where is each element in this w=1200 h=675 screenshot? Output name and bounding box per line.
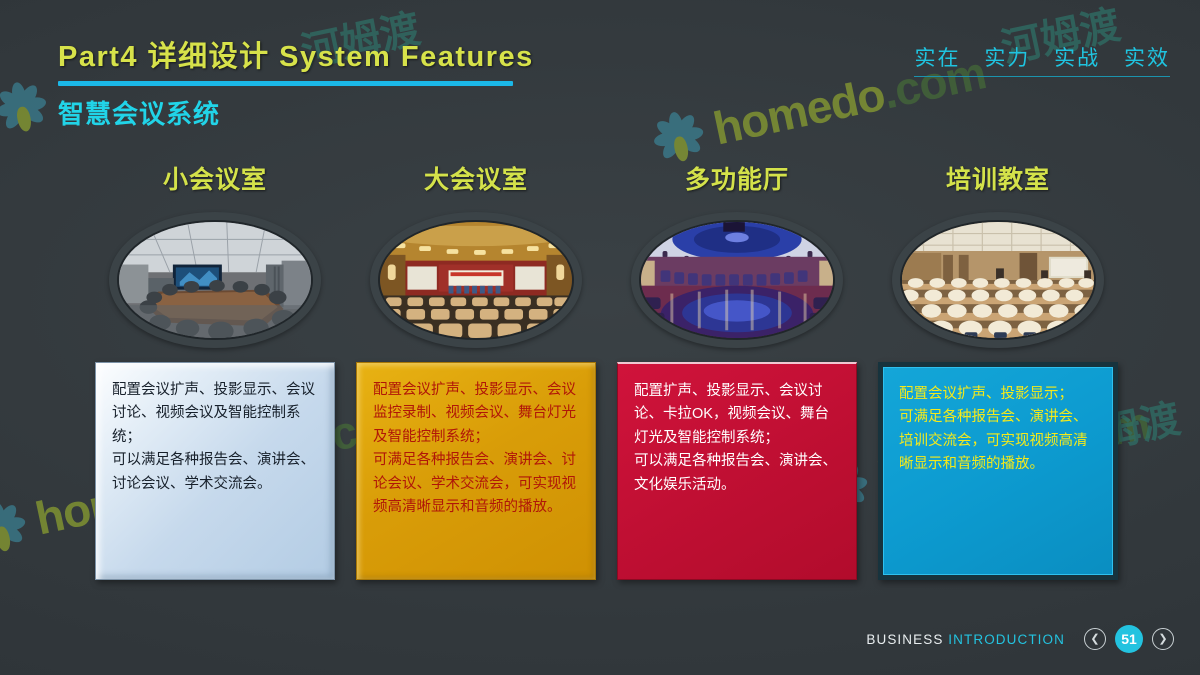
room-description-card: 配置会议扩声、投影显示、会议讨论、视频会议及智能控制系统； 可以满足各种报告会、… — [95, 362, 335, 580]
slide-footer: BUSINESS INTRODUCTION ❮ 51 ❯ — [866, 625, 1174, 653]
room-type-columns: 小会议室 — [95, 160, 1157, 605]
tagline-item-2: 实力 — [984, 47, 1030, 70]
footer-label: BUSINESS INTRODUCTION — [866, 632, 1065, 647]
description-paragraph-1: 配置会议扩声、投影显示、会议讨论、视频会议及智能控制系统； — [112, 379, 320, 449]
prev-slide-button[interactable]: ❮ — [1084, 628, 1106, 650]
page-number-badge: 51 — [1115, 625, 1143, 653]
column-heading: 大会议室 — [356, 160, 596, 202]
room-column-large-meeting: 大会议室 — [356, 160, 596, 605]
photo-clip — [378, 220, 574, 340]
description-paragraph-1: 配置会议扩声、投影显示、会议监控录制、视频会议、舞台灯光及智能控制系统； — [373, 379, 581, 449]
tagline-item-4: 实效 — [1124, 47, 1170, 70]
tagline-item-1: 实在 — [914, 47, 960, 70]
title-underline — [58, 81, 513, 86]
tagline-item-3: 实战 — [1054, 47, 1100, 70]
flower-logo-icon — [0, 495, 32, 559]
room-description-card: 配置会议扩声、投影显示； 可满足各种报告会、演讲会、培训交流会，可实现视频高清晰… — [878, 362, 1118, 580]
description-paragraph-1: 配置扩声、投影显示、会议讨论、卡拉OK，视频会议、舞台灯光及智能控制系统； — [634, 380, 842, 450]
chevron-left-icon: ❮ — [1090, 634, 1099, 645]
description-paragraph-2: 可满足各种报告会、演讲会、讨论会议、学术交流会，可实现视频高清晰显示和音频的播放… — [373, 449, 581, 519]
description-paragraph-2: 可以满足各种报告会、演讲会、文化娱乐活动。 — [634, 450, 842, 497]
tagline: 实在 实力 实战 实效 — [914, 42, 1170, 77]
slide-canvas: homedo.com homedo.com homedo.com homedo.… — [0, 0, 1200, 675]
multifunction-hall-photo — [639, 220, 835, 340]
flower-logo-icon — [0, 75, 53, 139]
description-paragraph-1: 配置会议扩声、投影显示； — [899, 383, 1099, 406]
room-column-training-classroom: 培训教室 — [878, 160, 1118, 605]
room-column-small-meeting: 小会议室 — [95, 160, 335, 605]
column-heading: 培训教室 — [878, 160, 1118, 202]
column-heading: 多功能厅 — [617, 160, 857, 202]
slide-header: Part4 详细设计 System Features 智慧会议系统 — [58, 33, 534, 131]
room-column-multifunction-hall: 多功能厅 — [617, 160, 857, 605]
watermark-brand-main: homedo — [709, 68, 889, 155]
training-classroom-illustration — [902, 222, 1094, 338]
chevron-right-icon: ❯ — [1158, 634, 1167, 645]
footer-label-accent: INTRODUCTION — [948, 632, 1065, 647]
description-paragraph-2: 可以满足各种报告会、演讲会、讨论会议、学术交流会。 — [112, 449, 320, 496]
multifunction-hall-illustration — [641, 222, 833, 338]
footer-label-primary: BUSINESS — [866, 632, 943, 647]
description-paragraph-2: 可满足各种报告会、演讲会、培训交流会，可实现视频高清晰显示和音频的播放。 — [899, 406, 1099, 476]
photo-clip — [117, 220, 313, 340]
photo-clip — [639, 220, 835, 340]
large-meeting-room-photo — [378, 220, 574, 340]
next-slide-button[interactable]: ❯ — [1152, 628, 1174, 650]
room-description-card: 配置会议扩声、投影显示、会议监控录制、视频会议、舞台灯光及智能控制系统； 可满足… — [356, 362, 596, 580]
photo-clip — [900, 220, 1096, 340]
small-meeting-room-photo — [117, 220, 313, 340]
large-meeting-room-illustration — [380, 222, 572, 338]
column-heading: 小会议室 — [95, 160, 335, 202]
watermark-logo-1 — [0, 75, 53, 139]
page-title: Part4 详细设计 System Features — [58, 33, 534, 75]
room-description-card: 配置扩声、投影显示、会议讨论、卡拉OK，视频会议、舞台灯光及智能控制系统； 可以… — [617, 362, 857, 580]
training-classroom-photo — [900, 220, 1096, 340]
small-meeting-room-illustration — [119, 222, 311, 338]
slide-subtitle: 智慧会议系统 — [58, 94, 534, 131]
